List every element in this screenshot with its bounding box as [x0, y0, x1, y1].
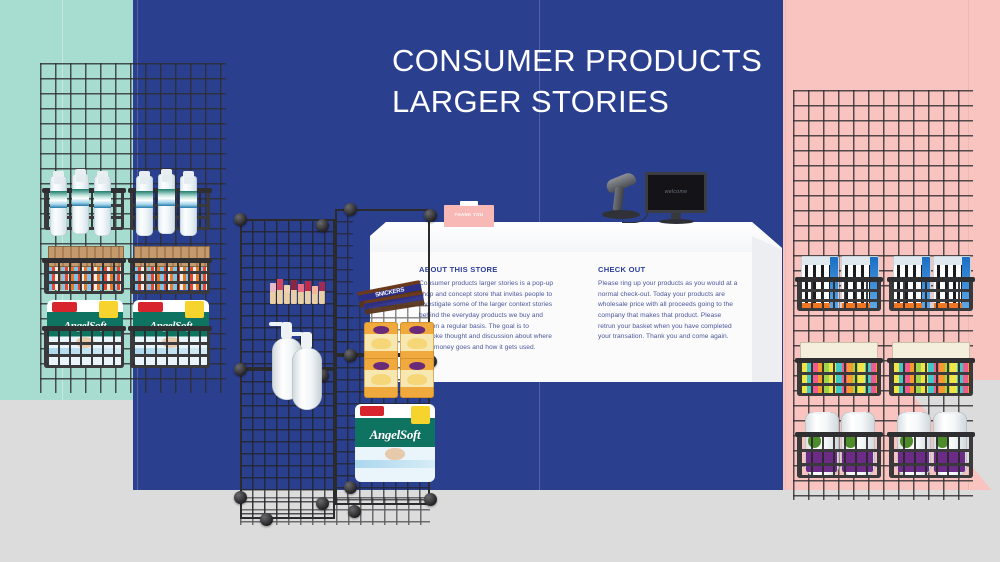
- barcode-scanner[interactable]: [600, 176, 644, 224]
- bag-label: THANK YOU: [444, 212, 494, 217]
- basket-lip: [887, 432, 975, 437]
- basket-pens-right[interactable]: [889, 281, 973, 311]
- title-line-1: CONSUMER PRODUCTS: [392, 40, 812, 81]
- cube-connector-knob: [260, 513, 273, 526]
- check-out-blurb: CHECK OUT Please ring up your products a…: [598, 265, 738, 343]
- basket-lip: [128, 326, 212, 331]
- cube-connector-knob: [234, 363, 247, 376]
- angel-soft-label: AngelSoft: [355, 427, 435, 443]
- pos-monitor[interactable]: welcome: [645, 172, 707, 224]
- cube-connector-knob: [348, 505, 361, 518]
- checkout-body: Please ring up your products as you woul…: [598, 279, 738, 343]
- cube-connector-knob: [316, 497, 329, 510]
- cube-connector-knob: [424, 493, 437, 506]
- basket-lip: [795, 277, 883, 282]
- angel-soft-pack-center[interactable]: AngelSoft: [355, 404, 435, 482]
- basket-angelsoft-left[interactable]: [44, 330, 124, 368]
- basket-lip: [42, 258, 126, 263]
- basket-lip: [887, 277, 975, 282]
- basket-popsicle-left[interactable]: [44, 262, 124, 294]
- tissue-box-1[interactable]: [364, 322, 398, 362]
- checkout-heading: CHECK OUT: [598, 265, 738, 274]
- thank-you-shopping-bag[interactable]: THANK YOU: [444, 205, 494, 227]
- cube-connector-knob: [424, 209, 437, 222]
- tissue-box-2[interactable]: [400, 322, 434, 362]
- basket-lip: [795, 358, 883, 363]
- tissue-box-4[interactable]: [400, 358, 434, 398]
- store-scene: CONSUMER PRODUCTS LARGER STORIES AngelSo…: [0, 0, 1000, 562]
- scanner-base: [602, 210, 640, 219]
- cube-connector-knob: [234, 491, 247, 504]
- bag-handle: [460, 201, 478, 206]
- cube-connector-knob: [344, 349, 357, 362]
- lipstick-group[interactable]: [270, 278, 330, 304]
- basket-postit-right[interactable]: [889, 362, 973, 396]
- cube-connector-knob: [234, 213, 247, 226]
- basket-popsicle-right[interactable]: [130, 262, 210, 294]
- basket-lip: [42, 326, 126, 331]
- basket-detergent-right[interactable]: [889, 436, 973, 478]
- basket-detergent-left[interactable]: [797, 436, 881, 478]
- page-title: CONSUMER PRODUCTS LARGER STORIES: [392, 40, 812, 122]
- basket-angelsoft-right[interactable]: [130, 330, 210, 368]
- monitor-welcome-text: welcome: [648, 189, 704, 195]
- basket-lip: [795, 432, 883, 437]
- basket-pens-left[interactable]: [797, 281, 881, 311]
- counter-right-face: [752, 236, 782, 382]
- basket-lip: [128, 258, 212, 263]
- basket-lip: [887, 358, 975, 363]
- cube-connector-knob: [316, 219, 329, 232]
- monitor-screen[interactable]: welcome: [645, 172, 707, 213]
- title-line-2: LARGER STORIES: [392, 81, 812, 122]
- basket-postit-left[interactable]: [797, 362, 881, 396]
- cube-connector-knob: [344, 481, 357, 494]
- cube-connector-knob: [344, 203, 357, 216]
- monitor-stand-base: [659, 219, 694, 224]
- soap-dispenser-2[interactable]: [292, 348, 322, 410]
- tissue-box-3[interactable]: [364, 358, 398, 398]
